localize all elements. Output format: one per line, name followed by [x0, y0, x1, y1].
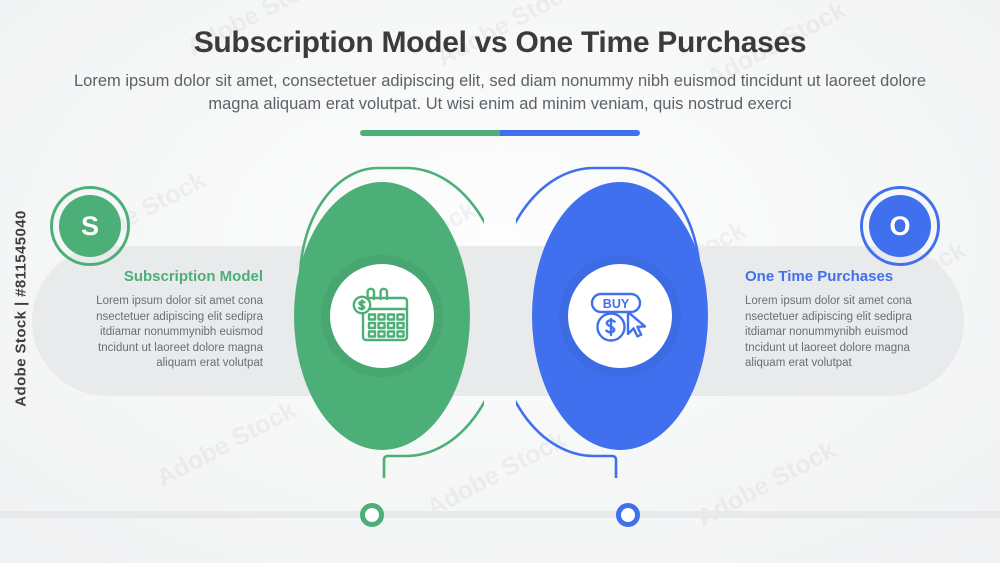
- badge-letter-s: S: [59, 195, 121, 257]
- divider-segment-green: [360, 130, 500, 136]
- bottom-divider-band: [0, 511, 1000, 518]
- badge-letter-o: O: [869, 195, 931, 257]
- watermark-tile: Adobe Stock: [692, 436, 841, 533]
- page-subtitle: Lorem ipsum dolor sit amet, consectetuer…: [60, 70, 940, 116]
- watermark-tile: Adobe Stock: [152, 396, 301, 493]
- buy-button-cursor-icon: BUY: [588, 287, 652, 345]
- section-heading-subscription: Subscription Model: [58, 268, 263, 285]
- icon-disc-green: [330, 264, 434, 368]
- icon-disc-blue: BUY: [568, 264, 672, 368]
- buy-icon-label: BUY: [603, 297, 630, 311]
- section-text-subscription: Subscription Model Lorem ipsum dolor sit…: [58, 268, 263, 372]
- page-title: Subscription Model vs One Time Purchases: [0, 26, 1000, 60]
- connector-dot-blue[interactable]: [616, 503, 640, 527]
- badge-one-time[interactable]: O: [860, 186, 940, 266]
- section-body-one-time: Lorem ipsum dolor sit amet cona nsectetu…: [745, 294, 950, 372]
- connector-dot-green[interactable]: [360, 503, 384, 527]
- section-heading-one-time: One Time Purchases: [745, 268, 950, 285]
- section-body-subscription: Lorem ipsum dolor sit amet cona nsectetu…: [58, 294, 263, 372]
- divider-segment-blue: [500, 130, 640, 136]
- watermark-attribution: Adobe Stock | #811545040: [13, 184, 30, 434]
- calendar-dollar-icon: [349, 285, 415, 347]
- infographic-canvas: Adobe Stock Adobe Stock Adobe Stock Adob…: [0, 0, 1000, 563]
- header-divider: [360, 130, 640, 136]
- section-text-one-time: One Time Purchases Lorem ipsum dolor sit…: [745, 268, 950, 372]
- badge-subscription[interactable]: S: [50, 186, 130, 266]
